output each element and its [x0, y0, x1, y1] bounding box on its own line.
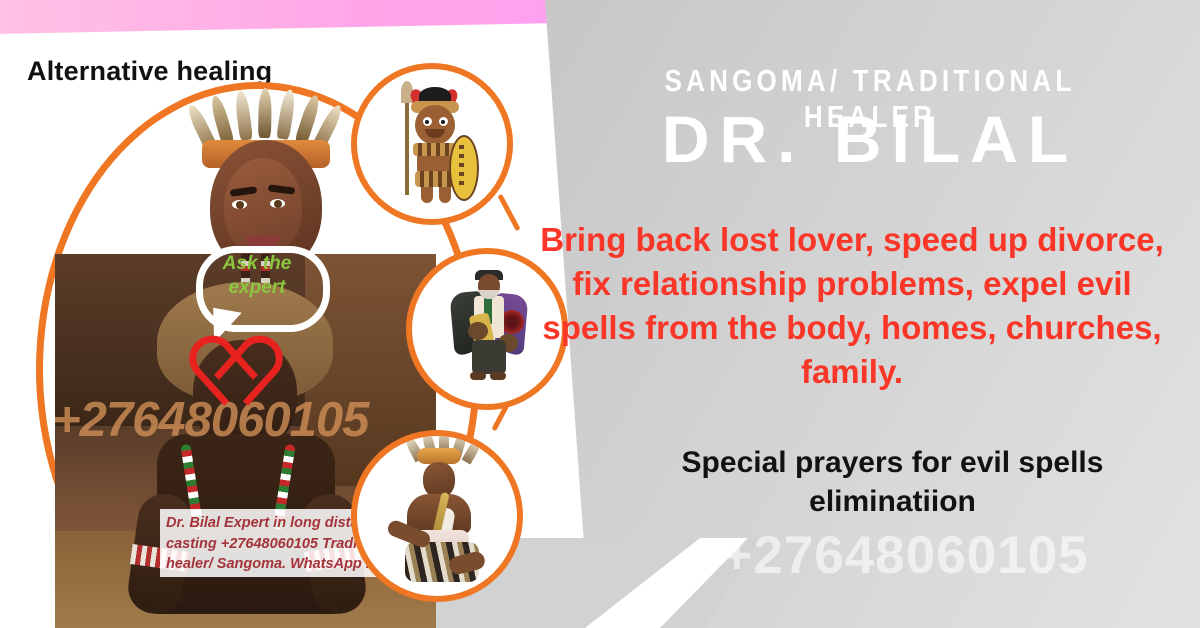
cloaked-healer-icon: [446, 270, 528, 388]
speech-bubble-label: Ask the expert: [203, 252, 311, 300]
pink-accent-bar: [0, 0, 601, 34]
circle-thumb-warrior: [351, 63, 513, 225]
services-text: Bring back lost lover, speed up divorce,…: [532, 218, 1172, 394]
caption-line-3: healer/ Sangoma. WhatsApp n: [166, 554, 390, 575]
special-prayers-text: Special prayers for evil spells eliminat…: [600, 443, 1185, 521]
traditional-dancer-icon: [381, 446, 489, 586]
heart-outline-icon: [196, 333, 282, 411]
circle-connector-1: [497, 194, 520, 232]
healer-name-heading: DR. BILAL: [560, 105, 1180, 174]
poster-canvas: Alternative healing: [0, 0, 1200, 628]
zulu-warrior-icon: [387, 83, 479, 205]
circle-thumb-dancer: [351, 430, 523, 602]
